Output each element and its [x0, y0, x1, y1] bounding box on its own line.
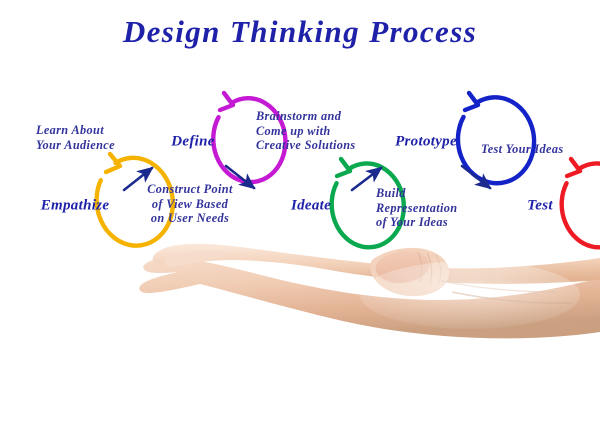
stage-label-empathize: Empathize — [41, 198, 110, 215]
stage-caption-prototype: Build Representation of Your Ideas — [376, 186, 496, 230]
stage-label-test: Test — [527, 198, 553, 215]
stage-circle-test[interactable] — [558, 159, 600, 251]
stage-label-define: Define — [171, 134, 214, 151]
arrow-prototype-to-test — [462, 166, 490, 188]
stage-caption-ideate: Brainstorm and Come up with Creative Sol… — [256, 109, 382, 153]
stage-caption-define: Construct Point of View Based on User Ne… — [132, 182, 248, 226]
stage-label-ideate: Ideate — [291, 198, 331, 215]
diagram-canvas: Design Thinking Process — [0, 0, 600, 434]
stage-caption-test: Test Your Ideas — [481, 142, 591, 157]
stage-caption-empathize: Learn About Your Audience — [36, 123, 146, 152]
stage-circle-prototype[interactable] — [454, 93, 539, 187]
stage-label-prototype: Prototype — [395, 134, 457, 151]
